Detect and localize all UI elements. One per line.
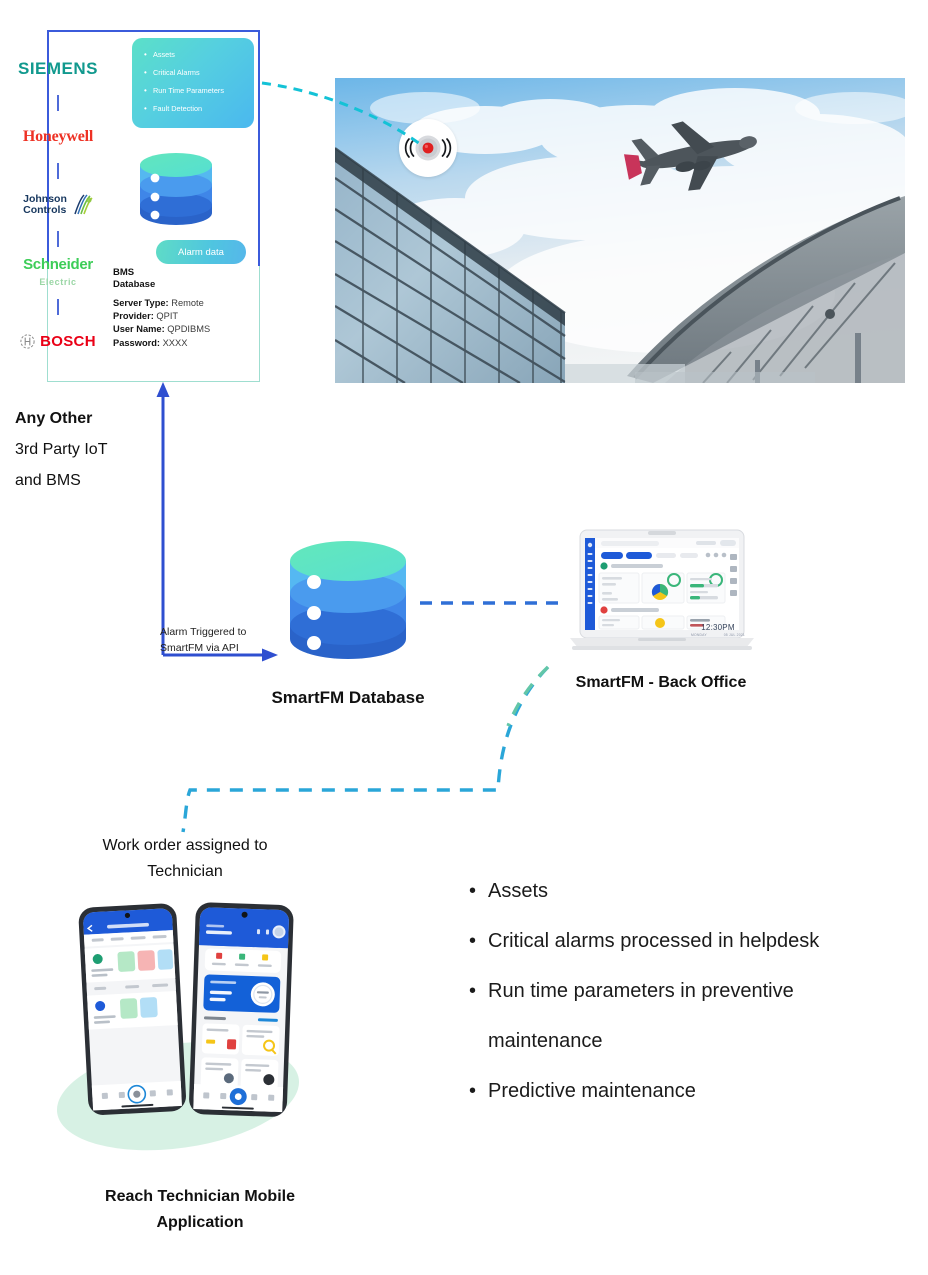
caption-line: Alarm Triggered to bbox=[160, 624, 300, 640]
alarm-trigger-caption: Alarm Triggered to SmartFM via API bbox=[160, 624, 300, 656]
work-order-caption: Work order assigned to Technician bbox=[60, 833, 310, 885]
caption-line: Application bbox=[45, 1210, 355, 1236]
caption-line: Reach Technician Mobile bbox=[45, 1184, 355, 1210]
clock-time: 12:30PM bbox=[691, 623, 745, 632]
clock-date: 05 JUL 2021 bbox=[724, 633, 745, 637]
connector-card-to-sensor bbox=[262, 83, 420, 144]
smartfm-database-icon bbox=[286, 525, 410, 673]
technician-mobile-app-mockup bbox=[50, 900, 360, 1160]
back-office-laptop: 12:30PM MONDAY 05 JUL 2021 bbox=[568, 528, 756, 658]
outcome-item: Assets bbox=[488, 866, 912, 916]
diagram-canvas: SIEMENS Honeywell Johnson Controls bbox=[0, 0, 928, 1275]
outcome-item: Predictive maintenance bbox=[488, 1066, 912, 1116]
outcomes-list: Assets Critical alarms processed in help… bbox=[462, 866, 912, 1116]
caption-line: SmartFM via API bbox=[160, 640, 300, 656]
back-office-label: SmartFM - Back Office bbox=[545, 674, 777, 692]
clock-weekday: MONDAY bbox=[691, 633, 707, 637]
caption-line: Work order assigned to bbox=[60, 833, 310, 859]
connector-arrow-up-head bbox=[157, 382, 170, 397]
back-office-clock: 12:30PM MONDAY 05 JUL 2021 bbox=[691, 623, 745, 637]
mobile-app-label: Reach Technician Mobile Application bbox=[45, 1184, 355, 1236]
outcome-item: Run time parameters in preventive mainte… bbox=[488, 966, 912, 1066]
outcome-item: Critical alarms processed in helpdesk bbox=[488, 916, 912, 966]
smartfm-database-label: SmartFM Database bbox=[230, 688, 466, 708]
caption-line: Technician bbox=[60, 859, 310, 885]
